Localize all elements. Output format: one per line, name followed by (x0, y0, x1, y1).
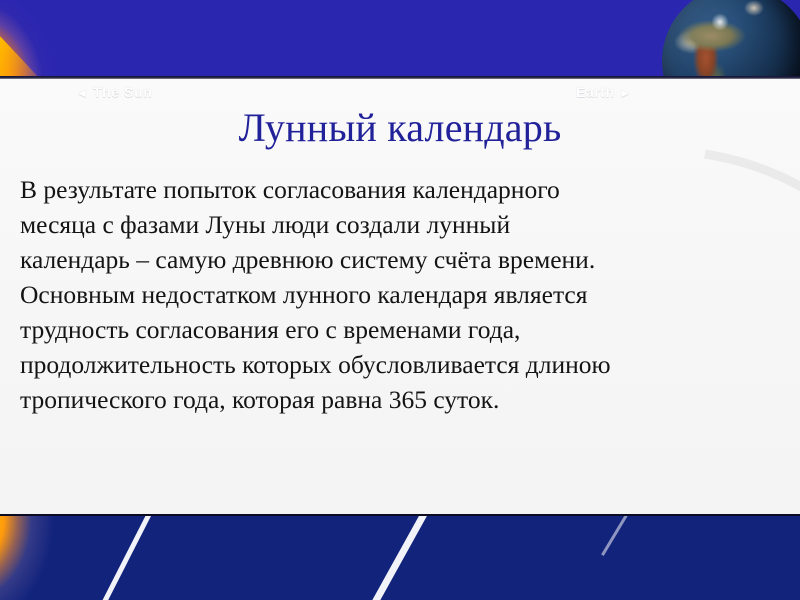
body-line: тропического года, которая равна 365 сут… (20, 382, 736, 417)
footer-divider (0, 514, 800, 516)
nav-next-earth[interactable]: Earth ► (576, 84, 632, 100)
presentation-slide: ◄ The Sun Earth ► Лунный календарь В рез… (0, 0, 800, 600)
earth-globe-icon (662, 0, 800, 78)
body-line: месяца с фазами Луны люди создали лунный (20, 207, 736, 242)
slide-header-band (0, 0, 800, 78)
slide-body-text: В результате попыток согласования календ… (20, 172, 736, 417)
nav-previous-label: The Sun (93, 84, 152, 100)
slide-title: Лунный календарь (0, 104, 800, 152)
chevron-right-icon: ► (619, 86, 631, 100)
nav-next-label: Earth (576, 84, 615, 100)
header-divider (0, 76, 800, 79)
body-line: календарь – самую древнюю систему счёта … (20, 242, 736, 277)
nav-previous-the-sun[interactable]: ◄ The Sun (76, 84, 152, 100)
body-line: В результате попыток согласования календ… (20, 172, 736, 207)
body-line: Основным недостатком лунного календаря я… (20, 277, 736, 312)
sun-glow-icon-footer (0, 515, 116, 600)
chevron-left-icon: ◄ (76, 86, 88, 100)
footer-swoosh-decoration (601, 515, 634, 556)
body-line: продолжительность которых обусловливаетс… (20, 347, 736, 382)
body-line: трудность согласования его с временами г… (20, 312, 736, 347)
slide-footer-band (0, 515, 800, 600)
footer-swoosh-decoration (357, 515, 431, 600)
globe-shading (662, 0, 800, 78)
